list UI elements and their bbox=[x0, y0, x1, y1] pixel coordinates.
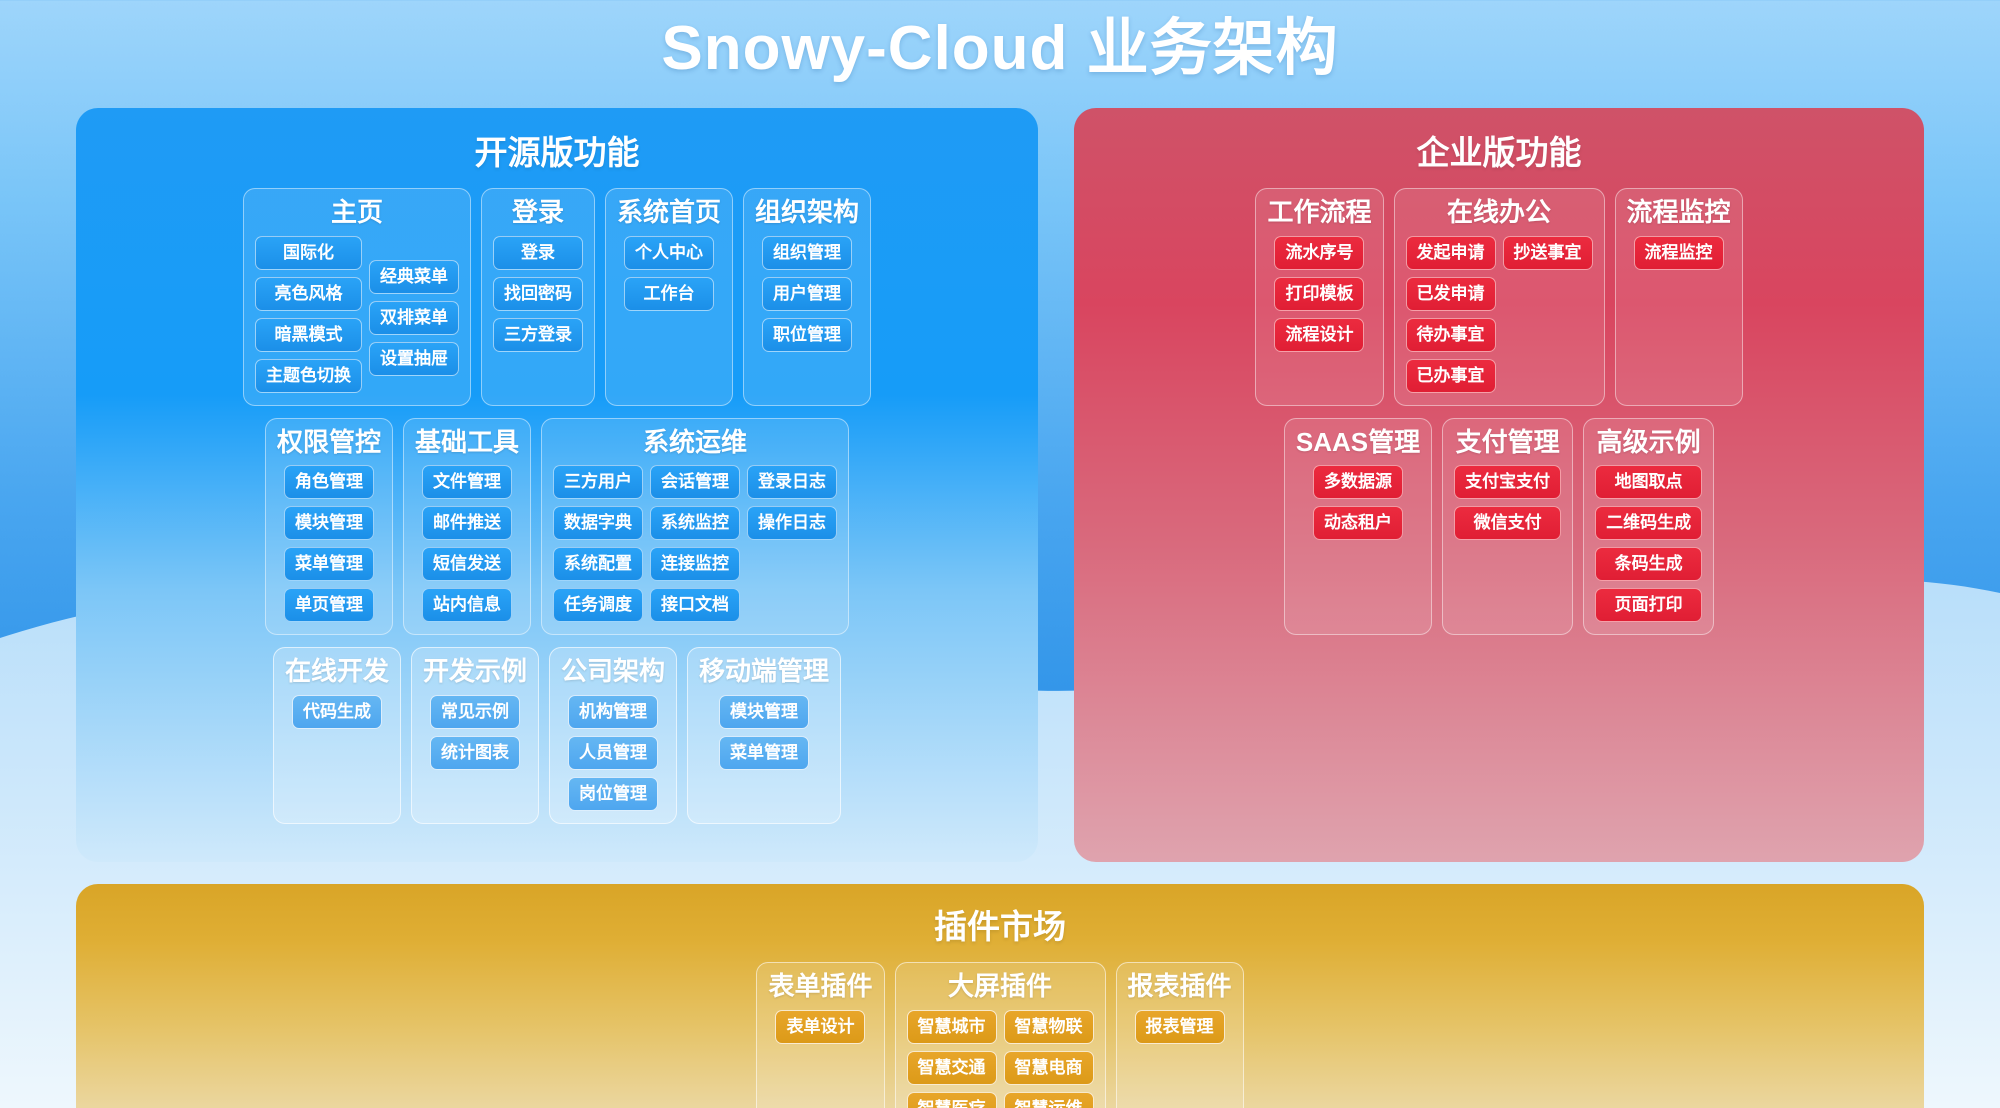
feature-chip[interactable]: 菜单管理 bbox=[719, 736, 809, 770]
feature-chip[interactable]: 智慧交通 bbox=[907, 1051, 997, 1085]
feature-chip[interactable]: 用户管理 bbox=[762, 277, 852, 311]
group-item-column: 智慧城市智慧交通智慧医疗智慧政务 bbox=[907, 1010, 997, 1108]
group-item-grid: 多数据源动态租户 bbox=[1313, 465, 1403, 540]
open-source-panel: 开源版功能 主页国际化亮色风格暗黑模式主题色切换经典菜单双排菜单设置抽屉登录登录… bbox=[76, 108, 1038, 862]
group-item-column: 流水序号打印模板流程设计 bbox=[1274, 236, 1364, 352]
feature-chip[interactable]: 短信发送 bbox=[422, 547, 512, 581]
feature-chip[interactable]: 系统监控 bbox=[650, 506, 740, 540]
group-item-grid: 报表管理 bbox=[1135, 1010, 1225, 1044]
feature-chip[interactable]: 工作台 bbox=[624, 277, 714, 311]
group-item-column: 机构管理人员管理岗位管理 bbox=[568, 695, 658, 811]
group-item-column: 常见示例统计图表 bbox=[430, 695, 520, 770]
feature-chip[interactable]: 表单设计 bbox=[775, 1010, 865, 1044]
feature-chip[interactable]: 机构管理 bbox=[568, 695, 658, 729]
feature-chip[interactable]: 智慧物联 bbox=[1004, 1010, 1094, 1044]
group-item-grid: 组织管理用户管理职位管理 bbox=[762, 236, 852, 352]
group-card-title: 主页 bbox=[331, 197, 383, 228]
group-card-title: 流程监控 bbox=[1627, 197, 1731, 228]
group-card: 报表插件报表管理 bbox=[1116, 962, 1244, 1108]
group-item-column: 支付宝支付微信支付 bbox=[1454, 465, 1561, 540]
group-item-grid: 地图取点二维码生成条码生成页面打印 bbox=[1595, 465, 1702, 622]
feature-chip[interactable]: 智慧运维 bbox=[1004, 1092, 1094, 1108]
feature-chip[interactable]: 个人中心 bbox=[624, 236, 714, 270]
feature-chip[interactable]: 模块管理 bbox=[284, 506, 374, 540]
group-item-grid: 角色管理模块管理菜单管理单页管理 bbox=[284, 465, 374, 622]
feature-chip[interactable]: 邮件推送 bbox=[422, 506, 512, 540]
feature-chip[interactable]: 找回密码 bbox=[493, 277, 583, 311]
feature-chip[interactable]: 抄送事宜 bbox=[1503, 236, 1593, 270]
group-item-grid: 发起申请已发申请待办事宜已办事宜抄送事宜 bbox=[1406, 236, 1593, 393]
feature-chip[interactable]: 站内信息 bbox=[422, 588, 512, 622]
feature-chip[interactable]: 国际化 bbox=[255, 236, 362, 270]
group-card-title: 公司架构 bbox=[561, 656, 665, 687]
plugin-market-title: 插件市场 bbox=[76, 900, 1924, 948]
group-item-column: 个人中心工作台 bbox=[624, 236, 714, 311]
group-card: 工作流程流水序号打印模板流程设计 bbox=[1255, 188, 1383, 406]
feature-chip[interactable]: 条码生成 bbox=[1595, 547, 1702, 581]
feature-chip[interactable]: 统计图表 bbox=[430, 736, 520, 770]
group-item-grid: 文件管理邮件推送短信发送站内信息 bbox=[422, 465, 512, 622]
feature-chip[interactable]: 菜单管理 bbox=[284, 547, 374, 581]
group-card-title: 在线开发 bbox=[285, 656, 389, 687]
enterprise-panel-title: 企业版功能 bbox=[1074, 126, 1924, 174]
feature-chip[interactable]: 角色管理 bbox=[284, 465, 374, 499]
group-item-grid: 国际化亮色风格暗黑模式主题色切换经典菜单双排菜单设置抽屉 bbox=[255, 236, 459, 393]
group-card-title: 系统首页 bbox=[617, 197, 721, 228]
feature-chip[interactable]: 设置抽屉 bbox=[369, 342, 459, 376]
group-card: 在线开发代码生成 bbox=[273, 647, 401, 824]
feature-chip[interactable]: 亮色风格 bbox=[255, 277, 362, 311]
feature-chip[interactable]: 已发申请 bbox=[1406, 277, 1496, 311]
group-card: 权限管控角色管理模块管理菜单管理单页管理 bbox=[265, 418, 393, 636]
group-item-column: 文件管理邮件推送短信发送站内信息 bbox=[422, 465, 512, 622]
feature-chip[interactable]: 组织管理 bbox=[762, 236, 852, 270]
group-card: 表单插件表单设计 bbox=[756, 962, 884, 1108]
plugin-market-row-1: 表单插件表单设计大屏插件智慧城市智慧交通智慧医疗智慧政务智慧物联智慧电商智慧运维… bbox=[76, 962, 1924, 1108]
group-card: 流程监控流程监控 bbox=[1615, 188, 1743, 406]
feature-chip[interactable]: 数据字典 bbox=[553, 506, 643, 540]
feature-chip[interactable]: 常见示例 bbox=[430, 695, 520, 729]
group-item-grid: 登录找回密码三方登录 bbox=[493, 236, 583, 352]
open-source-panel-title: 开源版功能 bbox=[76, 126, 1038, 174]
feature-chip[interactable]: 会话管理 bbox=[650, 465, 740, 499]
group-card: SAAS管理多数据源动态租户 bbox=[1284, 418, 1432, 636]
feature-chip[interactable]: 三方登录 bbox=[493, 318, 583, 352]
group-item-grid: 智慧城市智慧交通智慧医疗智慧政务智慧物联智慧电商智慧运维智慧金融 bbox=[907, 1010, 1094, 1108]
feature-chip[interactable]: 智慧城市 bbox=[907, 1010, 997, 1044]
group-item-column: 模块管理菜单管理 bbox=[719, 695, 809, 770]
group-card-title: 登录 bbox=[512, 197, 564, 228]
group-item-column: 登录找回密码三方登录 bbox=[493, 236, 583, 352]
feature-chip[interactable]: 流程监控 bbox=[1634, 236, 1724, 270]
group-card: 移动端管理模块管理菜单管理 bbox=[687, 647, 841, 824]
plugin-market-panel: 插件市场 表单插件表单设计大屏插件智慧城市智慧交通智慧医疗智慧政务智慧物联智慧电… bbox=[76, 884, 1924, 1108]
group-item-grid: 流水序号打印模板流程设计 bbox=[1274, 236, 1364, 352]
open-source-row-3: 在线开发代码生成开发示例常见示例统计图表公司架构机构管理人员管理岗位管理移动端管… bbox=[76, 647, 1038, 836]
group-card-title: 报表插件 bbox=[1128, 971, 1232, 1002]
feature-chip[interactable]: 多数据源 bbox=[1313, 465, 1403, 499]
feature-chip[interactable]: 文件管理 bbox=[422, 465, 512, 499]
group-card-title: 系统运维 bbox=[643, 427, 747, 458]
group-item-column: 流程监控 bbox=[1634, 236, 1724, 270]
group-card: 基础工具文件管理邮件推送短信发送站内信息 bbox=[403, 418, 531, 636]
group-item-column: 智慧物联智慧电商智慧运维智慧金融 bbox=[1004, 1010, 1094, 1108]
feature-chip[interactable]: 人员管理 bbox=[568, 736, 658, 770]
group-card-title: 表单插件 bbox=[768, 971, 872, 1002]
feature-chip[interactable]: 登录日志 bbox=[747, 465, 837, 499]
group-item-grid: 三方用户数据字典系统配置任务调度会话管理系统监控连接监控接口文档登录日志操作日志 bbox=[553, 465, 837, 622]
group-card-title: 高级示例 bbox=[1597, 427, 1701, 458]
feature-chip[interactable]: 系统配置 bbox=[553, 547, 643, 581]
group-item-column: 国际化亮色风格暗黑模式主题色切换 bbox=[255, 236, 362, 393]
feature-chip[interactable]: 代码生成 bbox=[292, 695, 382, 729]
feature-chip[interactable]: 动态租户 bbox=[1313, 506, 1403, 540]
feature-chip[interactable]: 已办事宜 bbox=[1406, 359, 1496, 393]
architecture-diagram: Snowy-Cloud 业务架构 开源版功能 主页国际化亮色风格暗黑模式主题色切… bbox=[0, 0, 2000, 1108]
group-item-grid: 支付宝支付微信支付 bbox=[1454, 465, 1561, 540]
page-title: Snowy-Cloud 业务架构 bbox=[0, 0, 2000, 80]
group-card-title: 基础工具 bbox=[415, 427, 519, 458]
group-item-column: 登录日志操作日志 bbox=[747, 465, 837, 622]
group-item-column: 地图取点二维码生成条码生成页面打印 bbox=[1595, 465, 1702, 622]
group-item-column: 多数据源动态租户 bbox=[1313, 465, 1403, 540]
group-card: 开发示例常见示例统计图表 bbox=[411, 647, 539, 824]
group-item-grid: 个人中心工作台 bbox=[624, 236, 714, 311]
group-card: 主页国际化亮色风格暗黑模式主题色切换经典菜单双排菜单设置抽屉 bbox=[243, 188, 471, 406]
enterprise-row-1: 工作流程流水序号打印模板流程设计在线办公发起申请已发申请待办事宜已办事宜抄送事宜… bbox=[1074, 188, 1924, 418]
group-item-grid: 流程监控 bbox=[1634, 236, 1724, 270]
feature-chip[interactable]: 连接监控 bbox=[650, 547, 740, 581]
group-card: 大屏插件智慧城市智慧交通智慧医疗智慧政务智慧物联智慧电商智慧运维智慧金融 bbox=[895, 962, 1106, 1108]
feature-chip[interactable]: 接口文档 bbox=[650, 588, 740, 622]
group-card-title: SAAS管理 bbox=[1296, 427, 1420, 458]
group-card: 公司架构机构管理人员管理岗位管理 bbox=[549, 647, 677, 824]
group-card: 高级示例地图取点二维码生成条码生成页面打印 bbox=[1583, 418, 1714, 636]
group-card: 登录登录找回密码三方登录 bbox=[481, 188, 595, 406]
group-card-title: 支付管理 bbox=[1456, 427, 1560, 458]
group-card: 支付管理支付宝支付微信支付 bbox=[1442, 418, 1573, 636]
group-item-column: 组织管理用户管理职位管理 bbox=[762, 236, 852, 352]
group-card-title: 工作流程 bbox=[1267, 197, 1371, 228]
group-card-title: 组织架构 bbox=[755, 197, 859, 228]
open-source-row-2: 权限管控角色管理模块管理菜单管理单页管理基础工具文件管理邮件推送短信发送站内信息… bbox=[76, 418, 1038, 648]
group-card-title: 大屏插件 bbox=[948, 971, 1052, 1002]
feature-chip[interactable]: 二维码生成 bbox=[1595, 506, 1702, 540]
group-item-column: 抄送事宜 bbox=[1503, 236, 1593, 393]
feature-chip[interactable]: 页面打印 bbox=[1595, 588, 1702, 622]
group-card-title: 在线办公 bbox=[1447, 197, 1551, 228]
feature-chip[interactable]: 职位管理 bbox=[762, 318, 852, 352]
group-item-column: 角色管理模块管理菜单管理单页管理 bbox=[284, 465, 374, 622]
feature-chip[interactable]: 发起申请 bbox=[1406, 236, 1496, 270]
group-card: 系统首页个人中心工作台 bbox=[605, 188, 733, 406]
group-card-title: 移动端管理 bbox=[699, 656, 829, 687]
group-card: 系统运维三方用户数据字典系统配置任务调度会话管理系统监控连接监控接口文档登录日志… bbox=[541, 418, 849, 636]
feature-chip[interactable]: 流水序号 bbox=[1274, 236, 1364, 270]
feature-chip[interactable]: 微信支付 bbox=[1454, 506, 1561, 540]
feature-chip[interactable]: 智慧电商 bbox=[1004, 1051, 1094, 1085]
feature-chip[interactable]: 流程设计 bbox=[1274, 318, 1364, 352]
feature-chip[interactable]: 任务调度 bbox=[553, 588, 643, 622]
feature-chip[interactable]: 模块管理 bbox=[719, 695, 809, 729]
main-panels-row: 开源版功能 主页国际化亮色风格暗黑模式主题色切换经典菜单双排菜单设置抽屉登录登录… bbox=[0, 80, 2000, 862]
group-item-column: 代码生成 bbox=[292, 695, 382, 729]
feature-chip[interactable]: 暗黑模式 bbox=[255, 318, 362, 352]
feature-chip[interactable]: 支付宝支付 bbox=[1454, 465, 1561, 499]
group-card: 组织架构组织管理用户管理职位管理 bbox=[743, 188, 871, 406]
feature-chip[interactable]: 登录 bbox=[493, 236, 583, 270]
group-item-grid: 模块管理菜单管理 bbox=[719, 695, 809, 770]
group-card-title: 权限管控 bbox=[277, 427, 381, 458]
enterprise-panel: 企业版功能 工作流程流水序号打印模板流程设计在线办公发起申请已发申请待办事宜已办… bbox=[1074, 108, 1924, 862]
feature-chip[interactable]: 打印模板 bbox=[1274, 277, 1364, 311]
group-item-column: 三方用户数据字典系统配置任务调度 bbox=[553, 465, 643, 622]
enterprise-row-2: SAAS管理多数据源动态租户支付管理支付宝支付微信支付高级示例地图取点二维码生成… bbox=[1074, 418, 1924, 648]
feature-chip[interactable]: 操作日志 bbox=[747, 506, 837, 540]
group-item-column: 发起申请已发申请待办事宜已办事宜 bbox=[1406, 236, 1496, 393]
feature-chip[interactable]: 双排菜单 bbox=[369, 301, 459, 335]
feature-chip[interactable]: 岗位管理 bbox=[568, 777, 658, 811]
group-item-grid: 表单设计 bbox=[775, 1010, 865, 1044]
feature-chip[interactable]: 智慧医疗 bbox=[907, 1092, 997, 1108]
group-item-column: 表单设计 bbox=[775, 1010, 865, 1044]
group-item-grid: 代码生成 bbox=[292, 695, 382, 729]
feature-chip[interactable]: 经典菜单 bbox=[369, 260, 459, 294]
group-item-grid: 常见示例统计图表 bbox=[430, 695, 520, 770]
group-item-grid: 机构管理人员管理岗位管理 bbox=[568, 695, 658, 811]
group-card-title: 开发示例 bbox=[423, 656, 527, 687]
feature-chip[interactable]: 主题色切换 bbox=[255, 359, 362, 393]
open-source-row-1: 主页国际化亮色风格暗黑模式主题色切换经典菜单双排菜单设置抽屉登录登录找回密码三方… bbox=[76, 188, 1038, 418]
group-item-column: 报表管理 bbox=[1135, 1010, 1225, 1044]
feature-chip[interactable]: 三方用户 bbox=[553, 465, 643, 499]
group-item-column: 经典菜单双排菜单设置抽屉 bbox=[369, 236, 459, 393]
feature-chip[interactable]: 待办事宜 bbox=[1406, 318, 1496, 352]
feature-chip[interactable]: 报表管理 bbox=[1135, 1010, 1225, 1044]
group-card: 在线办公发起申请已发申请待办事宜已办事宜抄送事宜 bbox=[1394, 188, 1605, 406]
feature-chip[interactable]: 单页管理 bbox=[284, 588, 374, 622]
feature-chip[interactable]: 地图取点 bbox=[1595, 465, 1702, 499]
group-item-column: 会话管理系统监控连接监控接口文档 bbox=[650, 465, 740, 622]
